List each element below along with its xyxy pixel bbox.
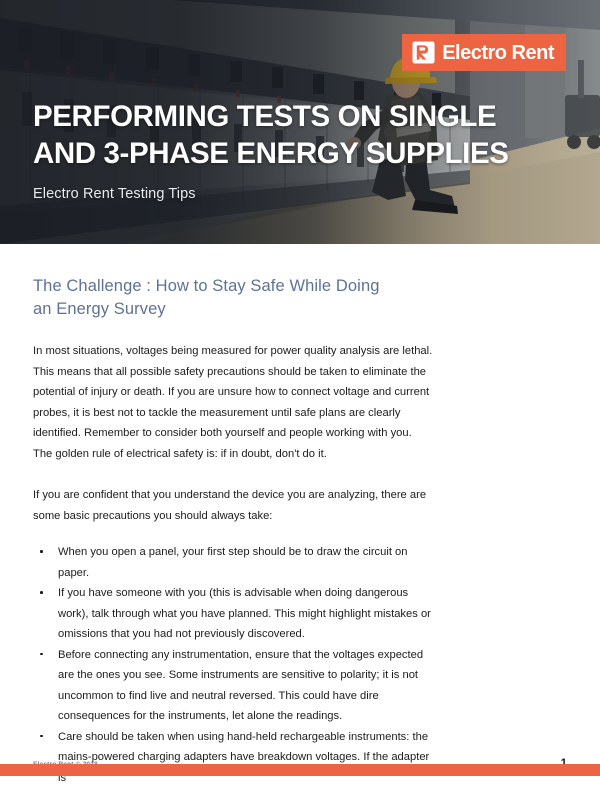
hero-subtitle: Electro Rent Testing Tips — [33, 186, 560, 202]
list-item: Before connecting any instrumentation, e… — [33, 645, 433, 727]
list-item: If you have someone with you (this is ad… — [33, 583, 433, 645]
body-paragraph-1: In most situations, voltages being measu… — [33, 321, 433, 464]
list-item-text: If you have someone with you (this is ad… — [58, 587, 431, 640]
list-item: When you open a panel, your first step s… — [33, 542, 433, 583]
logo-wordmark: Electro Rent — [442, 43, 554, 63]
list-item-text: When you open a panel, your first step s… — [58, 546, 408, 579]
electro-rent-logo[interactable]: Electro Rent — [402, 34, 566, 71]
body-paragraph-2: If you are confident that you understand… — [33, 464, 433, 526]
bullet-dot-icon — [40, 653, 43, 656]
precautions-bullet-list: When you open a panel, your first step s… — [33, 526, 433, 788]
section-heading-line-1: The Challenge : How to Stay Safe While D… — [33, 277, 380, 295]
hero-title-line-1: PERFORMING TESTS ON SINGLE — [33, 100, 496, 133]
document-content: The Challenge : How to Stay Safe While D… — [0, 244, 600, 788]
hero-text-block: PERFORMING TESTS ON SINGLE AND 3-PHASE E… — [33, 98, 560, 202]
bullet-dot-icon — [40, 550, 43, 553]
bullet-dot-icon — [40, 591, 43, 594]
hero-title-line-2: AND 3-PHASE ENERGY SUPPLIES — [33, 135, 560, 172]
section-heading: The Challenge : How to Stay Safe While D… — [33, 244, 453, 321]
hero-title: PERFORMING TESTS ON SINGLE AND 3-PHASE E… — [33, 98, 560, 172]
document-page: Electro Rent PERFORMING TESTS ON SINGLE … — [0, 0, 600, 776]
list-item-text: Before connecting any instrumentation, e… — [58, 649, 423, 723]
section-heading-line-2: an Energy Survey — [33, 298, 453, 321]
electro-rent-r-mark-icon — [412, 41, 435, 64]
hero-banner: Electro Rent PERFORMING TESTS ON SINGLE … — [0, 0, 600, 244]
bullet-dot-icon — [40, 735, 43, 738]
footer-accent-bar — [0, 764, 600, 776]
